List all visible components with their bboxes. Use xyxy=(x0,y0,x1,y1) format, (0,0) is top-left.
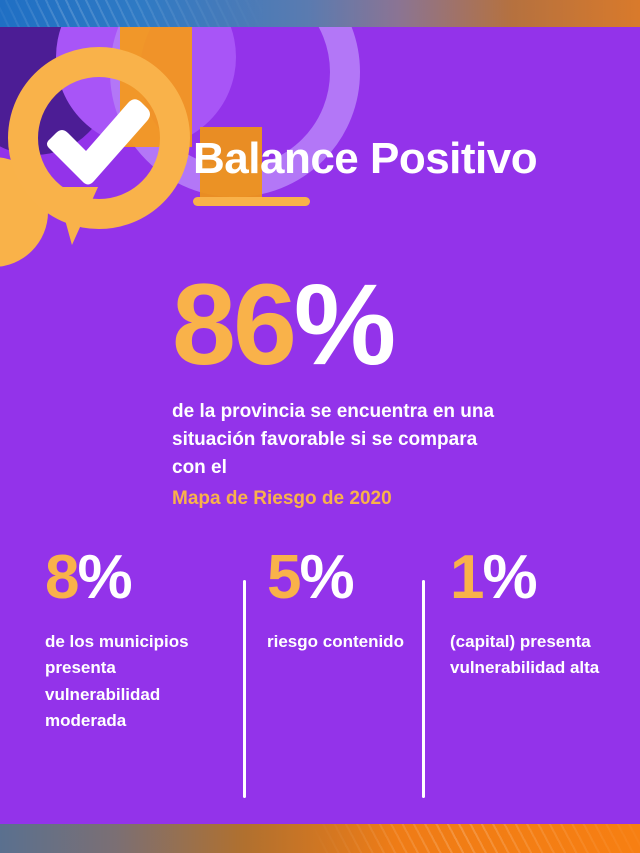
hero-stat-description: de la provincia se encuentra en una situ… xyxy=(172,398,502,512)
hero-stat-number: 86 xyxy=(172,261,294,389)
stat-value: 8% xyxy=(45,547,230,609)
stat-card: 1% (capital) presenta vulnerabilidad alt… xyxy=(450,547,615,682)
infographic-card: Balance Positivo 86% de la provincia se … xyxy=(0,0,640,853)
infographic-body: Balance Positivo 86% de la provincia se … xyxy=(0,27,640,824)
stat-divider xyxy=(243,580,246,798)
stat-description: riesgo contenido xyxy=(267,629,407,655)
title-underline-bar xyxy=(193,197,310,206)
stat-number: 5 xyxy=(267,543,299,612)
bottom-banner-stripes xyxy=(0,824,640,853)
bottom-gradient-banner xyxy=(0,824,640,853)
stat-number: 1 xyxy=(450,543,482,612)
stat-number: 8 xyxy=(45,543,77,612)
stat-unit: % xyxy=(299,543,352,612)
hero-highlight-text: Mapa de Riesgo de 2020 xyxy=(172,485,502,513)
hero-stat-unit: % xyxy=(294,261,393,389)
stat-card: 8% de los municipios presenta vulnerabil… xyxy=(45,547,230,734)
stats-row: 8% de los municipios presenta vulnerabil… xyxy=(0,547,640,797)
stat-description: de los municipios presenta vulnerabilida… xyxy=(45,629,230,734)
checkmark-icon xyxy=(42,87,154,187)
top-gradient-banner xyxy=(0,0,640,27)
top-banner-stripes xyxy=(0,0,640,27)
stat-value: 5% xyxy=(267,547,407,609)
stat-divider xyxy=(422,580,425,798)
stat-value: 1% xyxy=(450,547,615,609)
check-circle-icon xyxy=(8,47,190,229)
stat-description: (capital) presenta vulnerabilidad alta xyxy=(450,629,615,682)
page-title-block: Balance Positivo xyxy=(193,137,537,206)
hero-description-text: de la provincia se encuentra en una situ… xyxy=(172,401,494,478)
stat-unit: % xyxy=(77,543,130,612)
hero-stat-value: 86% xyxy=(172,271,592,380)
stat-unit: % xyxy=(482,543,535,612)
page-title: Balance Positivo xyxy=(193,137,537,181)
hero-stat: 86% de la provincia se encuentra en una … xyxy=(172,271,592,513)
stat-card: 5% riesgo contenido xyxy=(267,547,407,655)
